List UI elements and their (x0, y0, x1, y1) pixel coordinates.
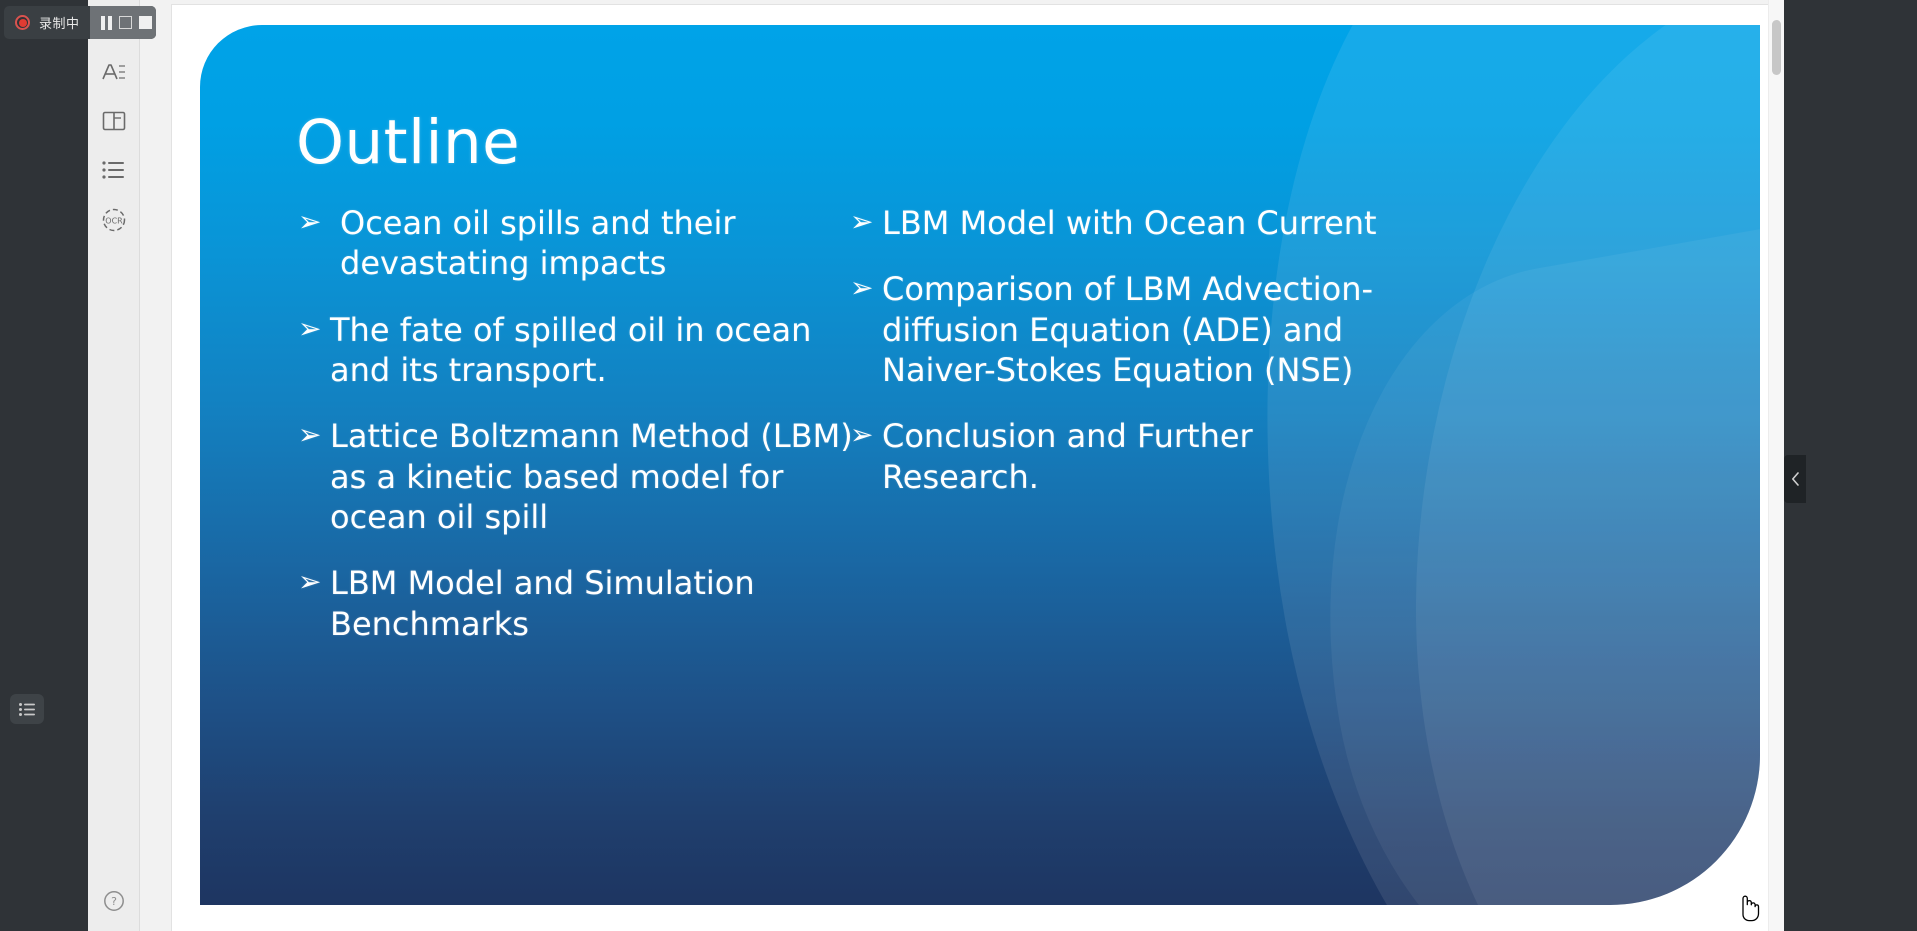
slide-title: Outline (296, 112, 520, 173)
arrow-bullet-icon: ➢ (298, 416, 328, 455)
chevron-left-icon (1791, 472, 1800, 486)
right-side-panel (1784, 0, 1917, 931)
book-view-icon[interactable] (88, 99, 140, 143)
window-icon[interactable] (119, 16, 132, 29)
bullet-item: ➢ Ocean oil spills and their devastating… (298, 203, 858, 284)
tool-icon-strip: OCR ? (88, 0, 140, 931)
bullet-text: The fate of spilled oil in ocean and its… (330, 310, 858, 391)
bullet-item: ➢ LBM Model and Simulation Benchmarks (298, 563, 858, 644)
bullet-item: ➢ Lattice Boltzmann Method (LBM) as a ki… (298, 416, 858, 537)
bullet-item: ➢ The fate of spilled oil in ocean and i… (298, 310, 858, 391)
arrow-bullet-icon: ➢ (850, 416, 880, 455)
arrow-bullet-icon: ➢ (298, 203, 328, 242)
bullet-text: Ocean oil spills and their devastating i… (330, 203, 858, 284)
app-window: 录制中 (0, 0, 1917, 931)
text-to-speech-icon[interactable] (88, 50, 140, 94)
bullet-text: Lattice Boltzmann Method (LBM) as a kine… (330, 416, 858, 537)
rail-list-button[interactable] (10, 694, 44, 724)
panel-collapse-button[interactable] (1784, 455, 1806, 503)
ocr-icon[interactable]: OCR (88, 198, 140, 242)
svg-text:?: ? (111, 895, 117, 908)
stop-icon[interactable] (139, 16, 152, 29)
bullet-column-right: ➢ LBM Model with Ocean Current ➢ Compari… (850, 203, 1410, 523)
bullet-item: ➢ Comparison of LBM Advection-diffusion … (850, 269, 1410, 390)
recording-indicator-bar: 录制中 (4, 6, 156, 39)
arrow-bullet-icon: ➢ (298, 563, 328, 602)
recording-status: 录制中 (4, 6, 90, 39)
record-dot-icon (15, 15, 30, 30)
scrollbar-thumb[interactable] (1772, 20, 1781, 75)
arrow-bullet-icon: ➢ (298, 310, 328, 349)
left-dark-rail (0, 0, 88, 931)
help-circle-icon[interactable]: ? (88, 879, 140, 923)
document-viewport[interactable]: Outline ➢ Ocean oil spills and their dev… (140, 0, 1784, 931)
bullet-item: ➢ LBM Model with Ocean Current (850, 203, 1410, 243)
arrow-bullet-icon: ➢ (850, 269, 880, 308)
bullet-text: Comparison of LBM Advection-diffusion Eq… (882, 269, 1410, 390)
list-icon (19, 703, 36, 716)
svg-text:OCR: OCR (105, 217, 123, 226)
presentation-slide: Outline ➢ Ocean oil spills and their dev… (200, 25, 1760, 905)
bullet-text: LBM Model and Simulation Benchmarks (330, 563, 858, 644)
bullet-text: LBM Model with Ocean Current (882, 203, 1410, 243)
bullet-item: ➢ Conclusion and Further Research. (850, 416, 1410, 497)
bullet-column-left: ➢ Ocean oil spills and their devastating… (298, 203, 858, 670)
document-page: Outline ➢ Ocean oil spills and their dev… (172, 5, 1787, 931)
outline-list-icon[interactable] (88, 148, 140, 192)
recording-controls (90, 6, 156, 39)
bullet-text: Conclusion and Further Research. (882, 416, 1410, 497)
pause-icon[interactable] (101, 16, 112, 30)
arrow-bullet-icon: ➢ (850, 203, 880, 242)
vertical-scrollbar[interactable] (1768, 0, 1784, 931)
recording-status-label: 录制中 (39, 13, 80, 32)
